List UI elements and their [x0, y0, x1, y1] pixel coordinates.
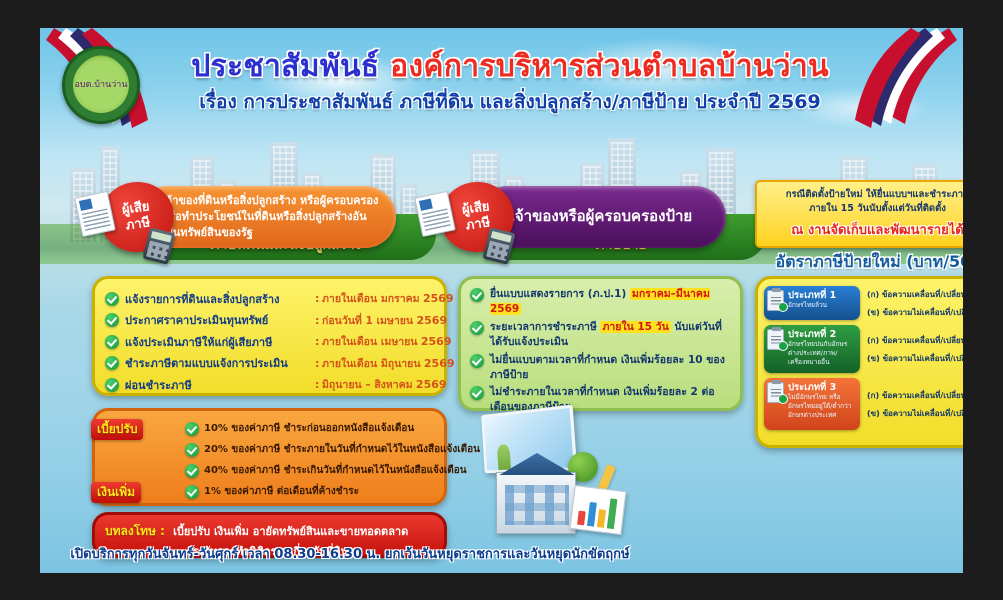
rule-text: ไม่ยื่นแบบตามเวลาที่กำหนด เงินเพิ่มร้อยล…	[490, 353, 731, 383]
criminal-tag: บทลงโทษ :	[105, 524, 165, 538]
rate-item: (ข) ข้อความไม่เคลื่อนที่/เปลี่ยนไม่ได้	[867, 306, 963, 319]
schedule-row: แจ้งรายการที่ดินและสิ่งปลูกสร้าง : ภายใน…	[105, 288, 434, 310]
poster-title-block: ประชาสัมพันธ์ องค์การบริหารส่วนตำบลบ้านว…	[160, 50, 860, 117]
surcharge-tag: เงินเพิ่ม	[91, 482, 141, 503]
rate-row: ประเภทที่ 1 อักษรไทยล้วน (ก) ข้อความเคลื…	[764, 286, 963, 320]
penalty-panel: เบี้ยปรับ เงินเพิ่ม 10% ของค่าภาษี ชำระก…	[92, 408, 447, 506]
rule-text: ไม่ชำระภายในเวลาที่กำหนด เงินเพิ่มร้อยละ…	[490, 385, 731, 415]
schedule-colon: :	[315, 292, 322, 305]
rate-item: (ข) ข้อความไม่เคลื่อนที่/เปลี่ยนไม่ได้	[867, 407, 963, 420]
rule-pre: ยื่นแบบแสดงรายการ (ภ.ป.1)	[490, 288, 630, 300]
rule-text: ยื่นแบบแสดงรายการ (ภ.ป.1) มกราคม–มีนาคม …	[490, 287, 731, 317]
chart-sheet-icon	[570, 485, 627, 535]
schedule-label: แจ้งรายการที่ดินและสิ่งปลูกสร้าง	[125, 290, 315, 308]
check-icon	[105, 378, 119, 392]
rate-items: (ก) ข้อความเคลื่อนที่/เปลี่ยนได้ (ข) ข้อ…	[860, 325, 963, 373]
schedule-label: ผ่อนชำระภาษี	[125, 376, 315, 394]
poster-canvas: อบต.บ้านว่าน ประชาสัมพันธ์ องค์การบริหาร…	[40, 28, 963, 573]
schedule-label: แจ้งประเมินภาษีให้แก่ผู้เสียภาษี	[125, 333, 315, 351]
schedule-row: ประกาศราคาประเมินทุนทรัพย์ : ก่อนวันที่ …	[105, 310, 434, 332]
schedule-row: ผ่อนชำระภาษี : มิถุนายน – สิงหาคม 2569	[105, 374, 434, 396]
rule-row: ไม่ชำระภายในเวลาที่กำหนด เงินเพิ่มร้อยละ…	[470, 385, 731, 415]
rule-pre: ระยะเวลาการชำระภาษี	[490, 321, 600, 333]
fine-tag: เบี้ยปรับ	[91, 419, 143, 440]
penalty-text: 40% ของค่าภาษี ชำระเกินวันที่กำหนดไว้ในห…	[204, 463, 467, 478]
house-icon	[496, 472, 576, 534]
penalty-row: 1% ของค่าภาษี ต่อเดือนที่ค้างชำระ	[101, 481, 436, 502]
rate-type-title: ประเภทที่ 3	[788, 382, 856, 393]
schedule-year: 2569	[421, 357, 455, 370]
check-badge-icon	[778, 341, 788, 351]
rule-text: ระยะเวลาการชำระภาษี ภายใน 15 วัน นับแต่ว…	[490, 320, 731, 350]
rate-type-title: ประเภทที่ 2	[788, 329, 856, 340]
rule-row: ไม่ยื่นแบบตามเวลาที่กำหนด เงินเพิ่มร้อยล…	[470, 353, 731, 383]
rule-row: ระยะเวลาการชำระภาษี ภายใน 15 วัน นับแต่ว…	[470, 320, 731, 350]
schedule-label: ชำระภาษีตามแบบแจ้งการประเมิน	[125, 354, 315, 372]
schedule-year: 2569	[413, 314, 447, 327]
check-icon	[470, 354, 484, 368]
check-icon	[470, 321, 484, 335]
rate-items: (ก) ข้อความเคลื่อนที่/เปลี่ยนได้ (ข) ข้อ…	[860, 286, 963, 320]
emblem-label: อบต.บ้านว่าน	[73, 57, 129, 113]
rate-type-desc: ไม่มีอักษรไทย หรืออักษรไทยอยู่ใต้/ต่ำกว่…	[788, 393, 856, 419]
penalty-row: 20% ของค่าภาษี ชำระภายในวันที่กำหนดไว้ใน…	[101, 439, 436, 460]
check-icon	[470, 288, 484, 302]
schedule-year: 2569	[417, 335, 451, 348]
schedule-date: ภายในเดือน เมษายน	[322, 333, 417, 350]
schedule-year: 2569	[413, 378, 447, 391]
rate-item: (ข) ข้อความไม่เคลื่อนที่/เปลี่ยนไม่ได้	[867, 352, 963, 365]
penalty-row: 40% ของค่าภาษี ชำระเกินวันที่กำหนดไว้ในห…	[101, 460, 436, 481]
schedule-year: 2569	[420, 292, 454, 305]
rate-type-tag: ประเภทที่ 3 ไม่มีอักษรไทย หรืออักษรไทยอย…	[764, 378, 860, 430]
schedule-colon: :	[315, 314, 322, 327]
criminal-text: เบี้ยปรับ เงินเพิ่ม อายัดทรัพย์สินและขาย…	[173, 525, 408, 538]
page-title: ประชาสัมพันธ์ องค์การบริหารส่วนตำบลบ้านว…	[160, 50, 860, 85]
schedule-date: ภายในเดือน มิถุนายน	[322, 355, 421, 372]
clipboard-icon	[767, 290, 784, 311]
schedule-row: แจ้งประเมินภาษีให้แก่ผู้เสียภาษี : ภายใน…	[105, 331, 434, 353]
schedule-date: มิถุนายน – สิงหาคม	[322, 376, 413, 393]
title-part2: องค์การบริหารส่วนตำบลบ้านว่าน	[390, 49, 829, 84]
check-badge-icon	[778, 394, 788, 404]
penalty-text: 10% ของค่าภาษี ชำระก่อนออกหนังสือแจ้งเตื…	[204, 421, 414, 436]
clipboard-icon	[767, 329, 784, 350]
rate-type-tag: ประเภทที่ 1 อักษรไทยล้วน	[764, 286, 860, 320]
criminal-line-1: บทลงโทษ : เบี้ยปรับ เงินเพิ่ม อายัดทรัพย…	[105, 520, 436, 541]
taxpayer-capsule-sign: ภาษีป้าย เจ้าของหรือผู้ครอบครองป้าย ผู้เ…	[440, 186, 730, 264]
rate-items: (ก) ข้อความเคลื่อนที่/เปลี่ยนได้ (ข) ข้อ…	[860, 378, 963, 430]
notice-line-1: กรณีติดตั้งป้ายใหม่ ให้ยื่นแบบฯและชำระภา…	[765, 188, 963, 202]
rate-item: (ก) ข้อความเคลื่อนที่/เปลี่ยนได้	[867, 334, 963, 347]
sign-tax-rules-panel: ยื่นแบบแสดงรายการ (ภ.ป.1) มกราคม–มีนาคม …	[458, 276, 743, 411]
schedule-date: ก่อนวันที่ 1 เมษายน	[322, 312, 413, 329]
check-icon	[185, 422, 199, 436]
badge-line2: ภาษี	[465, 215, 491, 234]
schedule-row: ชำระภาษีตามแบบแจ้งการประเมิน : ภายในเดือ…	[105, 353, 434, 375]
office-hours-footer: เปิดบริการทุกวันจันทร์-วันศุกร์ เวลา 08.…	[40, 543, 660, 564]
badge-line2: ภาษี	[125, 215, 151, 234]
penalty-text: 1% ของค่าภาษี ต่อเดือนที่ค้างชำระ	[204, 484, 359, 499]
check-icon	[185, 485, 199, 499]
check-icon	[470, 386, 484, 400]
penalty-text: 20% ของค่าภาษี ชำระภายในวันที่กำหนดไว้ใน…	[204, 442, 480, 457]
schedule-colon: :	[315, 378, 322, 391]
rate-item: (ก) ข้อความเคลื่อนที่/เปลี่ยนได้	[867, 389, 963, 402]
central-illustration	[460, 406, 650, 558]
pencil-icon	[589, 464, 615, 512]
check-icon	[105, 292, 119, 306]
land-tax-schedule-panel: แจ้งรายการที่ดินและสิ่งปลูกสร้าง : ภายใน…	[92, 276, 447, 396]
globe-icon	[568, 452, 598, 482]
check-badge-icon	[778, 302, 788, 312]
check-icon	[185, 464, 199, 478]
rate-row: ประเภทที่ 2 อักษรไทยปนกับอักษรต่างประเทศ…	[764, 325, 963, 373]
title-part1: ประชาสัมพันธ์	[191, 49, 379, 84]
schedule-date: ภายในเดือน มกราคม	[322, 290, 420, 307]
check-icon	[185, 443, 199, 457]
schedule-colon: :	[315, 335, 322, 348]
municipality-emblem: อบต.บ้านว่าน	[62, 46, 140, 124]
schedule-colon: :	[315, 357, 322, 370]
new-sign-notice: กรณีติดตั้งป้ายใหม่ ให้ยื่นแบบฯและชำระภา…	[755, 180, 963, 248]
sign-tax-rate-table: ประเภทที่ 1 อักษรไทยล้วน (ก) ข้อความเคลื…	[755, 276, 963, 448]
rate-row: ประเภทที่ 3 ไม่มีอักษรไทย หรืออักษรไทยอย…	[764, 378, 963, 430]
rate-type-title: ประเภทที่ 1	[788, 290, 856, 301]
check-icon	[105, 335, 119, 349]
notice-line-3: ณ งานจัดเก็บและพัฒนารายได้	[765, 219, 963, 240]
rate-type-tag: ประเภทที่ 2 อักษรไทยปนกับอักษรต่างประเทศ…	[764, 325, 860, 373]
rate-type-desc: อักษรไทยล้วน	[788, 301, 856, 310]
clipboard-icon	[767, 382, 784, 403]
penalty-row: 10% ของค่าภาษี ชำระก่อนออกหนังสือแจ้งเตื…	[101, 418, 436, 439]
check-icon	[105, 356, 119, 370]
schedule-label: ประกาศราคาประเมินทุนทรัพย์	[125, 311, 315, 329]
rule-row: ยื่นแบบแสดงรายการ (ภ.ป.1) มกราคม–มีนาคม …	[470, 287, 731, 317]
capsule-body-land: เจ้าของที่ดินหรือสิ่งปลูกสร้าง หรือผู้คร…	[136, 186, 396, 248]
page-subtitle: เรื่อง การประชาสัมพันธ์ ภาษีที่ดิน และสิ…	[160, 87, 860, 117]
rate-type-desc: อักษรไทยปนกับอักษรต่างประเทศ/ภาพ/เครื่อง…	[788, 340, 856, 366]
rate-item: (ก) ข้อความเคลื่อนที่/เปลี่ยนได้	[867, 288, 963, 301]
rule-highlight: ภายใน 15 วัน	[600, 321, 670, 333]
notice-line-2: ภายใน 15 วันนับตั้งแต่วันที่ติดตั้ง	[765, 202, 963, 216]
taxpayer-capsule-land: ภาษีที่ดินและสิ่งปลูกสร้าง เจ้าของที่ดิน…	[100, 186, 400, 264]
check-icon	[105, 313, 119, 327]
